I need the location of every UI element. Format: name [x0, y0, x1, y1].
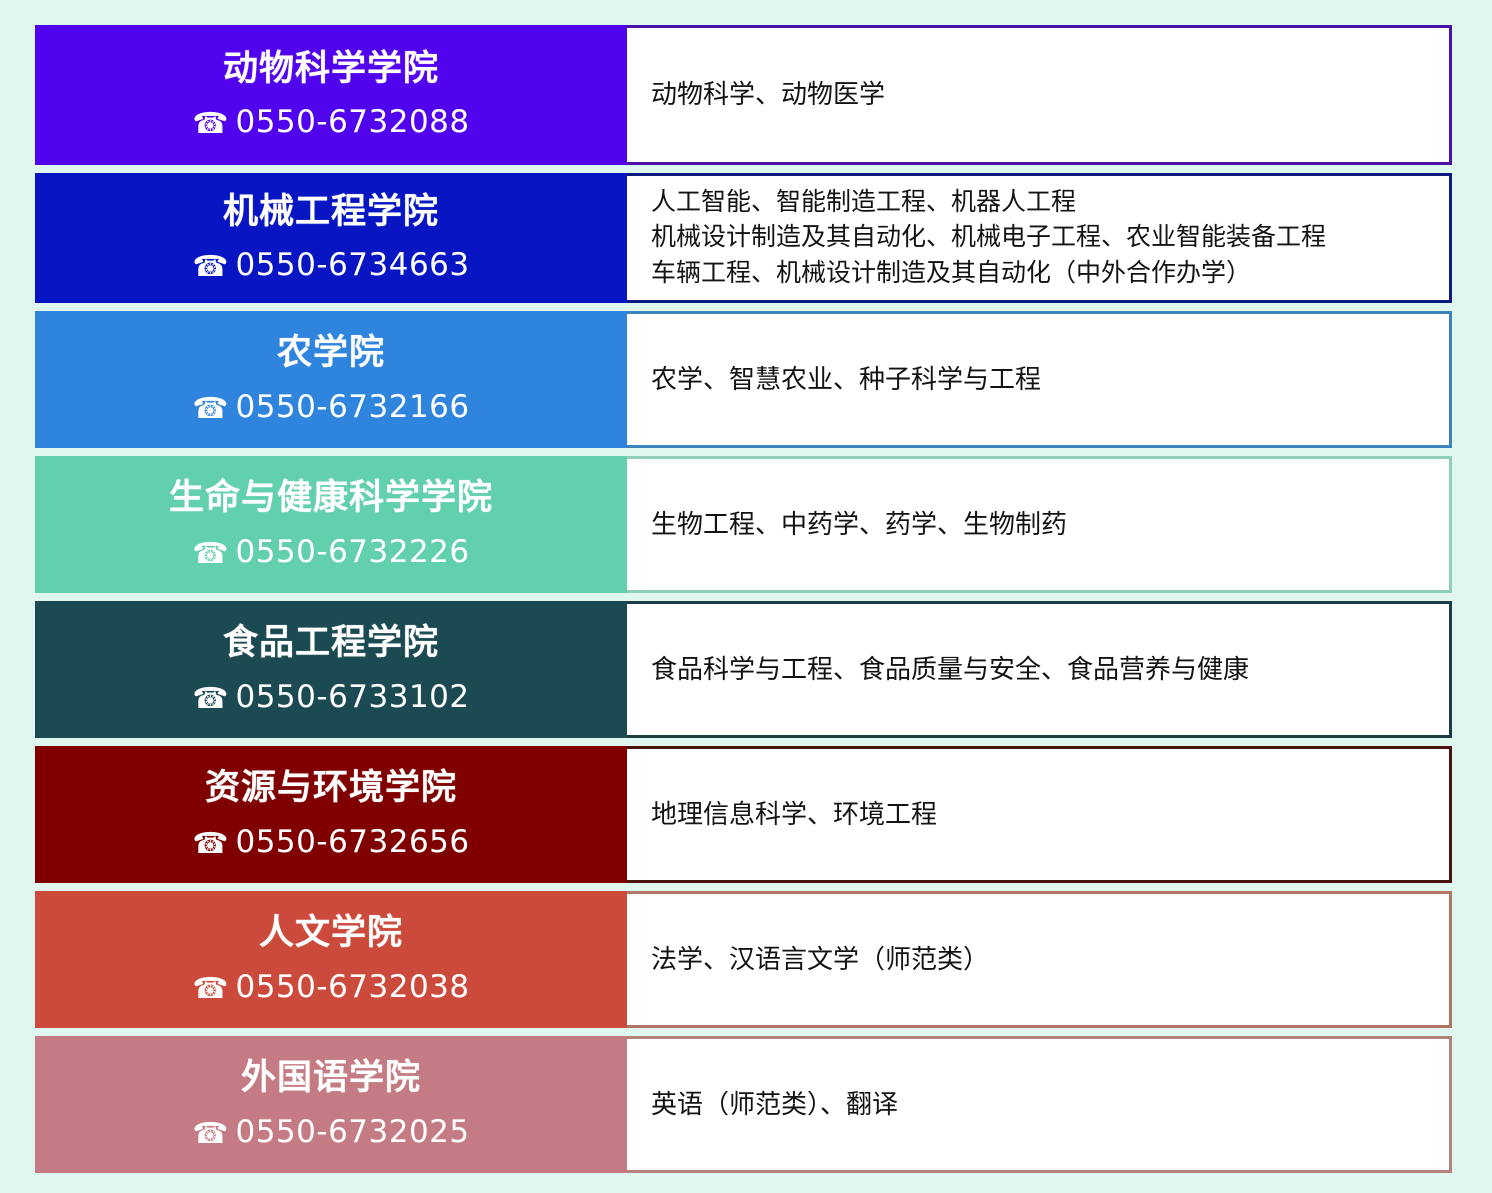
majors-cell: 法学、汉语言文学（师范类） [627, 891, 1452, 1028]
telephone-icon: ☎ [192, 1116, 228, 1150]
table-row: 食品工程学院 ☎0550-6733102 食品科学与工程、食品质量与安全、食品营… [35, 601, 1452, 738]
majors-text: 英语（师范类）、翻译 [651, 1086, 898, 1124]
phone-number: 0550-6732226 [235, 534, 469, 570]
department-phone: ☎0550-6732226 [192, 534, 469, 571]
major-line: 人工智能、智能制造工程、机器人工程 [651, 185, 1326, 221]
phone-number: 0550-6732025 [235, 1114, 469, 1150]
department-cell: 资源与环境学院 ☎0550-6732656 [35, 746, 627, 883]
table-row: 农学院 ☎0550-6732166 农学、智慧农业、种子科学与工程 [35, 311, 1452, 448]
department-cell: 机械工程学院 ☎0550-6734663 [35, 173, 627, 303]
department-cell: 外国语学院 ☎0550-6732025 [35, 1036, 627, 1173]
majors-cell: 地理信息科学、环境工程 [627, 746, 1452, 883]
department-cell: 生命与健康科学学院 ☎0550-6732226 [35, 456, 627, 593]
department-major-table: 动物科学学院 ☎0550-6732088 动物科学、动物医学 机械工程学院 ☎0… [35, 25, 1452, 1173]
telephone-icon: ☎ [192, 536, 228, 570]
department-name: 动物科学学院 [223, 47, 439, 91]
major-line: 动物科学、动物医学 [651, 76, 885, 114]
department-name: 资源与环境学院 [205, 766, 457, 810]
major-line: 生物工程、中药学、药学、生物制药 [651, 506, 1067, 544]
major-line: 车辆工程、机械设计制造及其自动化（中外合作办学） [651, 256, 1326, 292]
department-cell: 人文学院 ☎0550-6732038 [35, 891, 627, 1028]
table-row: 外国语学院 ☎0550-6732025 英语（师范类）、翻译 [35, 1036, 1452, 1173]
department-phone: ☎0550-6732038 [192, 969, 469, 1006]
phone-number: 0550-6734663 [235, 247, 469, 283]
phone-number: 0550-6732038 [235, 969, 469, 1005]
department-phone: ☎0550-6732088 [192, 104, 469, 141]
department-cell: 动物科学学院 ☎0550-6732088 [35, 25, 627, 165]
majors-cell: 动物科学、动物医学 [627, 25, 1452, 165]
department-name: 生命与健康科学学院 [169, 476, 493, 520]
department-name: 机械工程学院 [223, 190, 439, 234]
department-phone: ☎0550-6732656 [192, 824, 469, 861]
telephone-icon: ☎ [192, 106, 228, 140]
department-phone: ☎0550-6733102 [192, 679, 469, 716]
major-line: 地理信息科学、环境工程 [651, 796, 937, 834]
major-line: 法学、汉语言文学（师范类） [651, 941, 989, 979]
department-name: 外国语学院 [241, 1056, 421, 1100]
majors-text: 人工智能、智能制造工程、机器人工程 机械设计制造及其自动化、机械电子工程、农业智… [651, 185, 1326, 292]
telephone-icon: ☎ [192, 681, 228, 715]
phone-number: 0550-6732088 [235, 104, 469, 140]
majors-cell: 生物工程、中药学、药学、生物制药 [627, 456, 1452, 593]
phone-number: 0550-6732166 [235, 389, 469, 425]
telephone-icon: ☎ [192, 826, 228, 860]
telephone-icon: ☎ [192, 391, 228, 425]
majors-text: 法学、汉语言文学（师范类） [651, 941, 989, 979]
majors-cell: 食品科学与工程、食品质量与安全、食品营养与健康 [627, 601, 1452, 738]
table-row: 动物科学学院 ☎0550-6732088 动物科学、动物医学 [35, 25, 1452, 165]
department-cell: 食品工程学院 ☎0550-6733102 [35, 601, 627, 738]
majors-text: 地理信息科学、环境工程 [651, 796, 937, 834]
major-line: 农学、智慧农业、种子科学与工程 [651, 361, 1041, 399]
table-row: 人文学院 ☎0550-6732038 法学、汉语言文学（师范类） [35, 891, 1452, 1028]
majors-text: 农学、智慧农业、种子科学与工程 [651, 361, 1041, 399]
department-name: 人文学院 [259, 911, 403, 955]
major-line: 食品科学与工程、食品质量与安全、食品营养与健康 [651, 651, 1249, 689]
table-row: 生命与健康科学学院 ☎0550-6732226 生物工程、中药学、药学、生物制药 [35, 456, 1452, 593]
majors-cell: 英语（师范类）、翻译 [627, 1036, 1452, 1173]
telephone-icon: ☎ [192, 249, 228, 283]
phone-number: 0550-6732656 [235, 824, 469, 860]
telephone-icon: ☎ [192, 971, 228, 1005]
department-phone: ☎0550-6734663 [192, 247, 469, 284]
majors-cell: 农学、智慧农业、种子科学与工程 [627, 311, 1452, 448]
major-line: 机械设计制造及其自动化、机械电子工程、农业智能装备工程 [651, 220, 1326, 256]
table-row: 机械工程学院 ☎0550-6734663 人工智能、智能制造工程、机器人工程 机… [35, 173, 1452, 303]
major-line: 英语（师范类）、翻译 [651, 1086, 898, 1124]
department-phone: ☎0550-6732166 [192, 389, 469, 426]
department-phone: ☎0550-6732025 [192, 1114, 469, 1151]
phone-number: 0550-6733102 [235, 679, 469, 715]
department-cell: 农学院 ☎0550-6732166 [35, 311, 627, 448]
department-name: 农学院 [277, 331, 385, 375]
majors-text: 食品科学与工程、食品质量与安全、食品营养与健康 [651, 651, 1249, 689]
majors-text: 生物工程、中药学、药学、生物制药 [651, 506, 1067, 544]
department-name: 食品工程学院 [223, 621, 439, 665]
majors-text: 动物科学、动物医学 [651, 76, 885, 114]
table-row: 资源与环境学院 ☎0550-6732656 地理信息科学、环境工程 [35, 746, 1452, 883]
majors-cell: 人工智能、智能制造工程、机器人工程 机械设计制造及其自动化、机械电子工程、农业智… [627, 173, 1452, 303]
